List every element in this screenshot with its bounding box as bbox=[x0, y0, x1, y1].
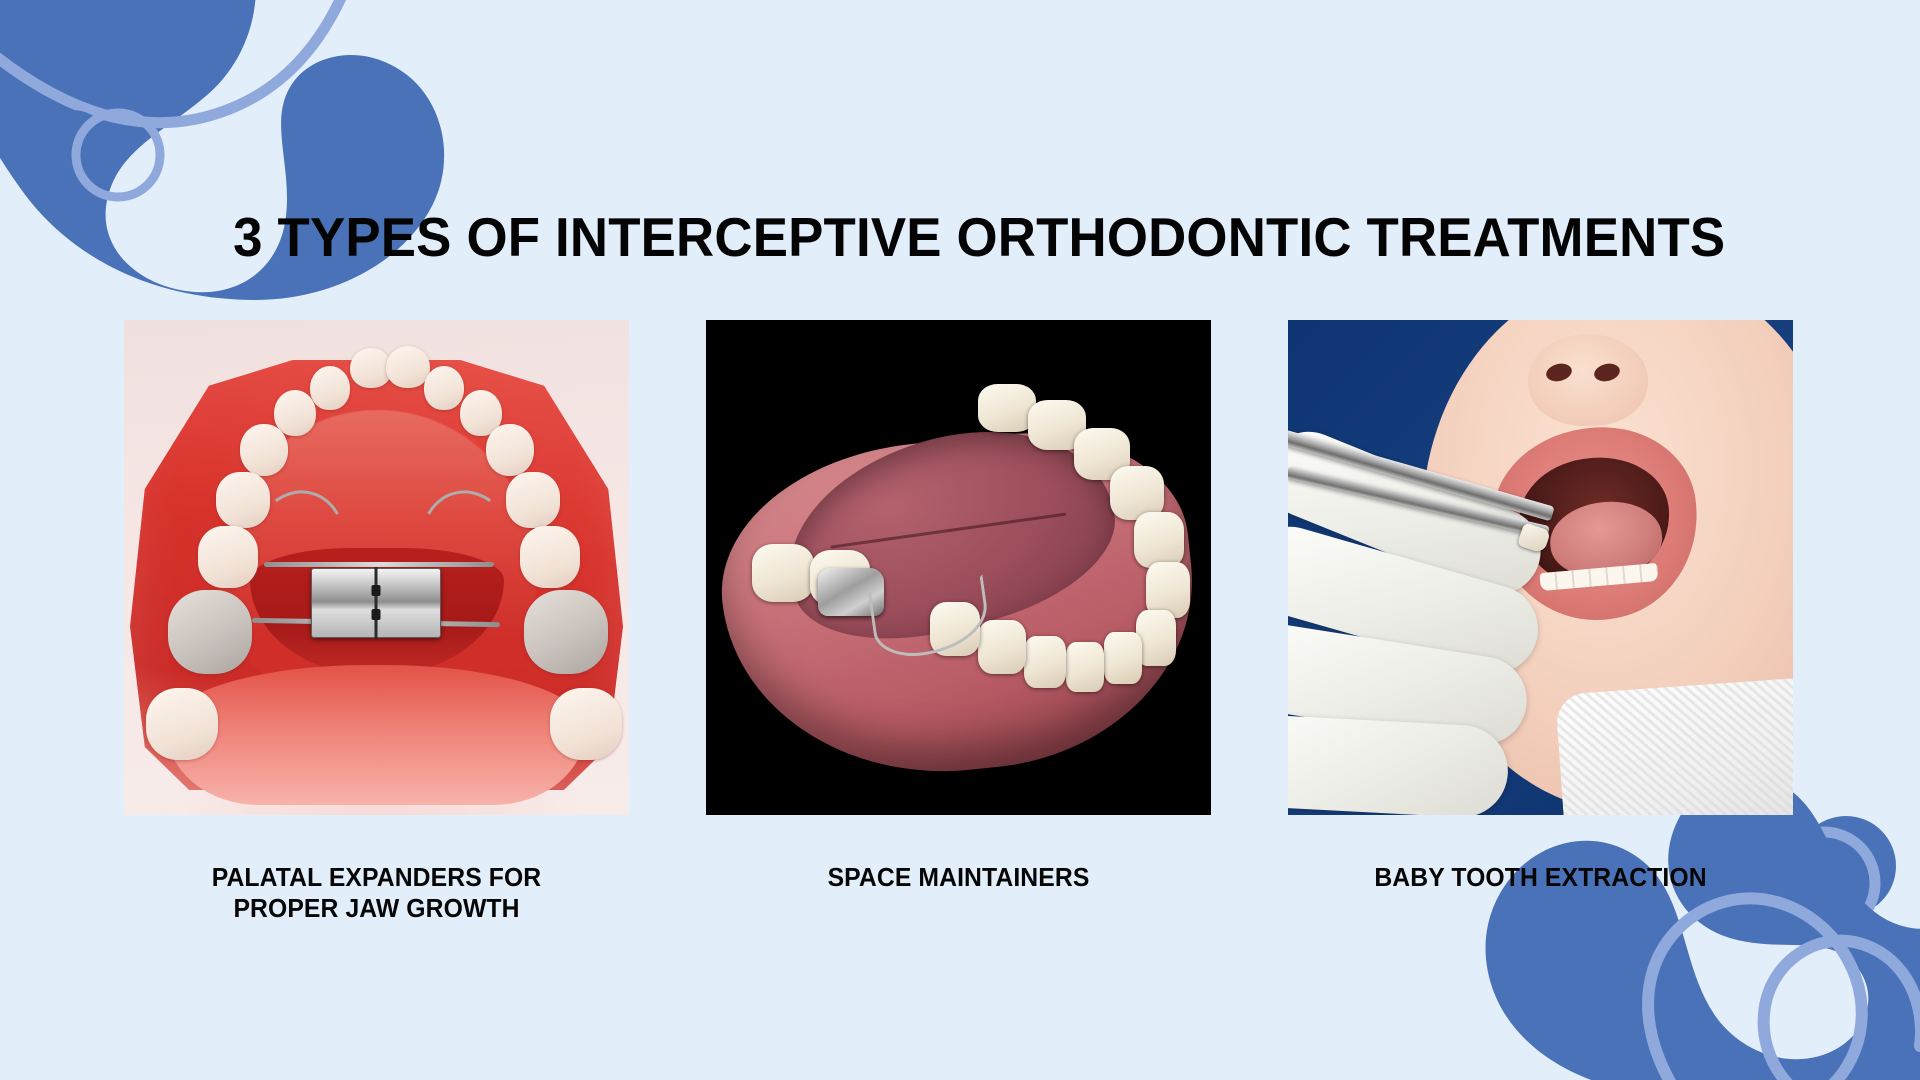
caption-baby-tooth-extraction: BABY TOOTH EXTRACTION bbox=[1296, 863, 1786, 894]
top-left-outline-circle bbox=[76, 113, 160, 197]
bottom-right-wave-line bbox=[1764, 941, 1920, 1080]
page-title: 3 TYPES OF INTERCEPTIVE ORTHODONTIC TREA… bbox=[38, 209, 1881, 267]
bottom-right-wave-line-2 bbox=[1648, 898, 1862, 1080]
gloved-palm bbox=[1288, 712, 1510, 815]
expansion-screw bbox=[311, 568, 441, 638]
caption-line-1: SPACE MAINTAINERS bbox=[714, 863, 1204, 894]
caption-line-1: PALATAL EXPANDERS FOR bbox=[132, 863, 622, 894]
treatment-card-baby-tooth-extraction: BABY TOOTH EXTRACTION bbox=[1288, 320, 1793, 894]
treatment-card-palatal-expanders: PALATAL EXPANDERS FOR PROPER JAW GROWTH bbox=[124, 320, 629, 925]
towel bbox=[1555, 675, 1793, 815]
image-baby-tooth-extraction bbox=[1288, 320, 1793, 815]
poster-canvas: 3 TYPES OF INTERCEPTIVE ORTHODONTIC TREA… bbox=[0, 0, 1920, 1080]
caption-palatal-expanders: PALATAL EXPANDERS FOR PROPER JAW GROWTH bbox=[132, 863, 622, 925]
image-space-maintainers bbox=[706, 320, 1211, 815]
treatment-card-list: PALATAL EXPANDERS FOR PROPER JAW GROWTH bbox=[124, 320, 1794, 920]
top-left-filled-circle bbox=[30, 110, 114, 194]
image-palatal-expanders bbox=[124, 320, 629, 815]
treatment-card-space-maintainers: SPACE MAINTAINERS bbox=[706, 320, 1211, 894]
caption-line-2: PROPER JAW GROWTH bbox=[132, 894, 622, 925]
caption-line-1: BABY TOOTH EXTRACTION bbox=[1296, 863, 1786, 894]
top-left-wave-line bbox=[0, 0, 356, 123]
bottom-right-filled-circle bbox=[1796, 816, 1896, 916]
caption-space-maintainers: SPACE MAINTAINERS bbox=[714, 863, 1204, 894]
